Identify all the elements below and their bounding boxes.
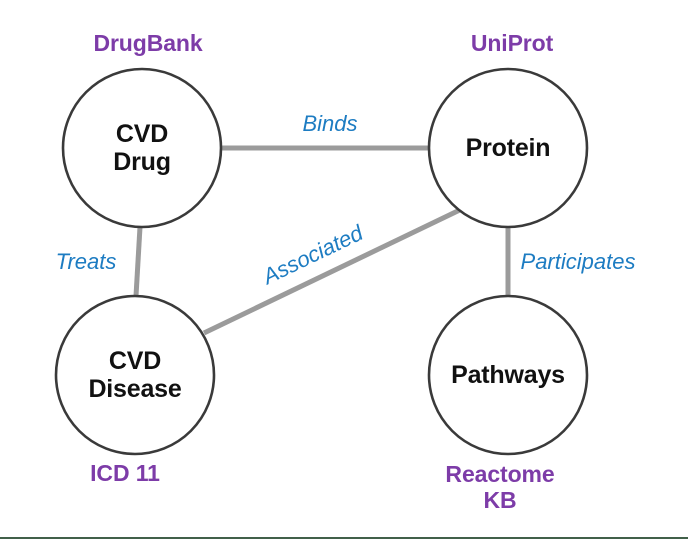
- source-label-icd11: ICD 11: [90, 460, 160, 486]
- source-label-reactome-kb: Reactome KB: [445, 461, 554, 513]
- source-label-drugbank: DrugBank: [93, 30, 202, 56]
- node-circle-cvd-disease[interactable]: [56, 296, 214, 454]
- edge-label-treats: Treats: [56, 250, 117, 274]
- edge-line-associated: [204, 207, 466, 333]
- source-label-uniprot: UniProt: [471, 30, 553, 56]
- edge-label-participates: Participates: [521, 250, 636, 274]
- edge-line-treats: [136, 227, 140, 296]
- diagram-canvas: CVD Drug Protein CVD Disease Pathways Dr…: [0, 0, 688, 544]
- node-circle-cvd-drug[interactable]: [63, 69, 221, 227]
- bottom-divider: [0, 537, 688, 539]
- node-circle-protein[interactable]: [429, 69, 587, 227]
- edge-label-binds: Binds: [302, 112, 357, 136]
- node-circle-pathways[interactable]: [429, 296, 587, 454]
